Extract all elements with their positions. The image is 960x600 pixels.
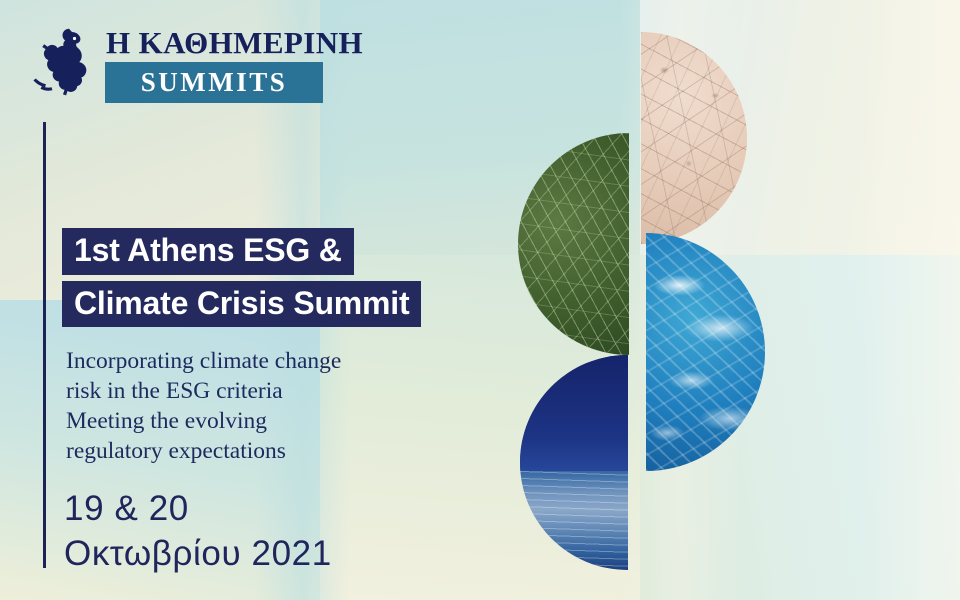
logo-summits-badge: SUMMITS bbox=[105, 62, 323, 103]
subtitle-line-4: regulatory expectations bbox=[66, 436, 446, 466]
subtitle-block: Incorporating climate change risk in the… bbox=[66, 346, 446, 466]
circle-collage bbox=[470, 0, 810, 600]
headline-row-2: Climate Crisis Summit bbox=[62, 281, 421, 328]
subtitle-line-1: Incorporating climate change bbox=[66, 346, 446, 376]
event-date-line-1: 19 & 20 bbox=[64, 487, 332, 532]
subtitle-line-2: risk in the ESG criteria bbox=[66, 376, 446, 406]
vertical-accent-rule bbox=[43, 122, 46, 568]
page-title: 1st Athens ESG & Climate Crisis Summit bbox=[62, 228, 421, 333]
event-date-block: 19 & 20 Οκτωβρίου 2021 bbox=[64, 487, 332, 577]
headline-line-1: 1st Athens ESG & bbox=[62, 228, 354, 275]
deep-sea-circle bbox=[520, 355, 735, 570]
headline-row-1: 1st Athens ESG & bbox=[62, 228, 421, 275]
subtitle-line-3: Meeting the evolving bbox=[66, 406, 446, 436]
event-date-line-2: Οκτωβρίου 2021 bbox=[64, 532, 332, 577]
event-poster: Η ΚΑΘΗΜΕΡΙΝΗ SUMMITS 1st Athens ESG & Cl… bbox=[0, 0, 960, 600]
bg-soft-band-right bbox=[860, 0, 960, 600]
headline-line-2: Climate Crisis Summit bbox=[62, 281, 421, 328]
deep-sea-sky bbox=[520, 355, 628, 471]
logo-summits-label: SUMMITS bbox=[141, 67, 288, 98]
deep-sea-half bbox=[520, 355, 628, 570]
logo-wordmark: Η ΚΑΘΗΜΕΡΙΝΗ bbox=[106, 24, 323, 62]
kathimerini-summits-logo[interactable]: Η ΚΑΘΗΜΕΡΙΝΗ SUMMITS bbox=[28, 24, 323, 106]
griffin-emblem-icon bbox=[28, 26, 96, 102]
